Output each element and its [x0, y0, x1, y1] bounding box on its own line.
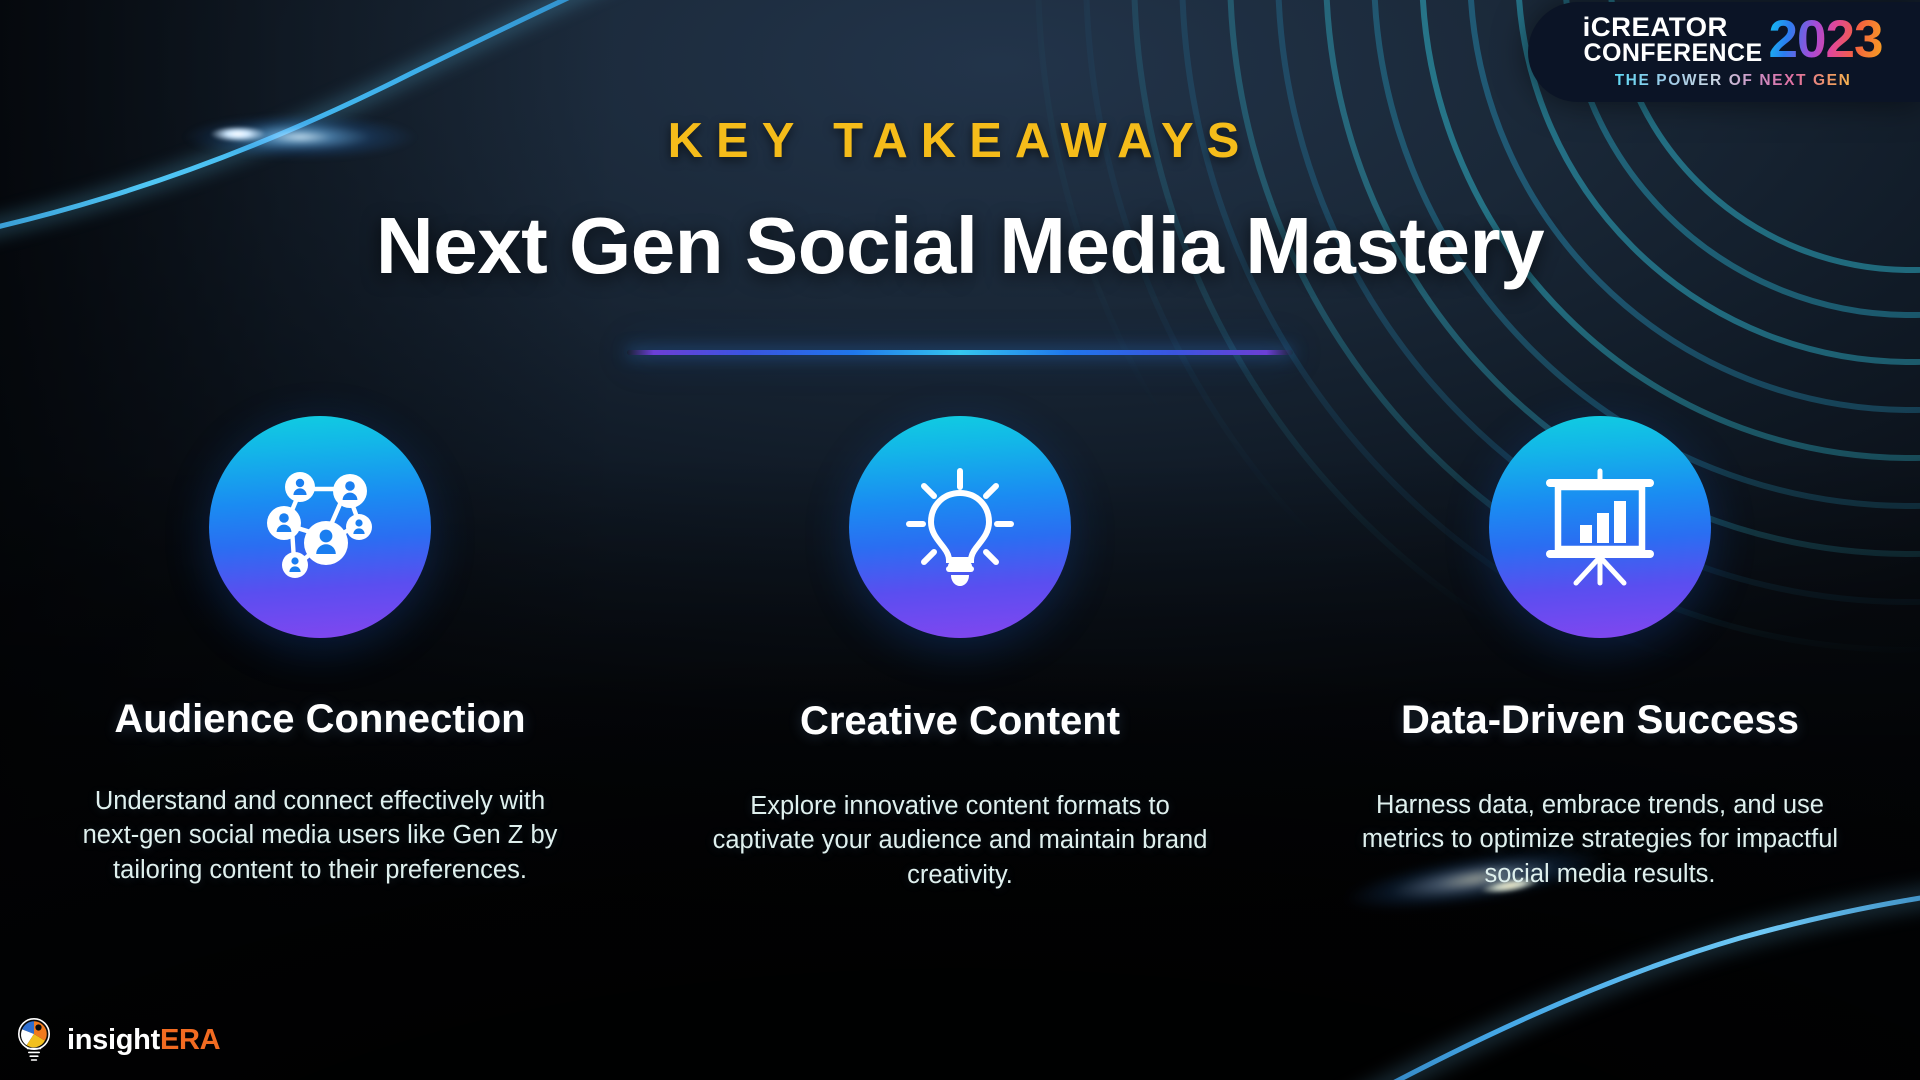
conference-logo-row: iCREATOR CONFERENCE 2023 [1584, 14, 1883, 67]
page-title: Next Gen Social Media Mastery [0, 200, 1920, 292]
conference-logo-line2: CONFERENCE [1584, 41, 1763, 67]
conference-logo-creator: CREATOR [1590, 12, 1727, 42]
takeaway-cards: Audience Connection Understand and conne… [0, 416, 1920, 892]
conference-logo: iCREATOR CONFERENCE 2023 THE POWER OF NE… [1528, 2, 1920, 102]
icon-circle-3 [1489, 416, 1711, 638]
slide-eyebrow: KEY TAKEAWAYS [0, 113, 1920, 169]
conference-logo-year: 2023 [1769, 17, 1883, 64]
takeaway-card-data-driven-success: Data-Driven Success Harness data, embrac… [1280, 416, 1920, 891]
presentation-bar-chart-icon [1538, 465, 1662, 589]
card-body-3: Harness data, embrace trends, and use me… [1350, 788, 1850, 891]
title-divider [627, 350, 1293, 355]
footer-brand: insightERA [14, 1016, 220, 1064]
network-people-icon [258, 465, 382, 589]
takeaway-card-audience-connection: Audience Connection Understand and conne… [0, 416, 640, 887]
icon-circle-2 [849, 416, 1071, 638]
card-body-1: Understand and connect effectively with … [64, 784, 576, 887]
brand-primary: insight [67, 1024, 160, 1057]
conference-logo-wordmark: iCREATOR CONFERENCE [1584, 14, 1763, 67]
card-title-2: Creative Content [800, 699, 1120, 744]
icon-circle-1 [209, 416, 431, 638]
lightbulb-idea-icon [901, 465, 1019, 589]
card-body-2: Explore innovative content formats to ca… [710, 789, 1210, 892]
slide-root: iCREATOR CONFERENCE 2023 THE POWER OF NE… [0, 0, 1920, 1080]
conference-logo-tagline: THE POWER OF NEXT GEN [1615, 72, 1852, 90]
conference-logo-line1: iCREATOR [1582, 14, 1727, 40]
lightbulb-pie-icon [14, 1016, 54, 1064]
takeaway-card-creative-content: Creative Content Explore innovative cont… [640, 416, 1280, 892]
brand-accent: ERA [160, 1024, 220, 1057]
brand-wordmark: insightERA [67, 1024, 220, 1057]
card-title-1: Audience Connection [114, 697, 525, 742]
conference-logo-i: i [1582, 12, 1590, 42]
card-title-3: Data-Driven Success [1401, 698, 1799, 743]
